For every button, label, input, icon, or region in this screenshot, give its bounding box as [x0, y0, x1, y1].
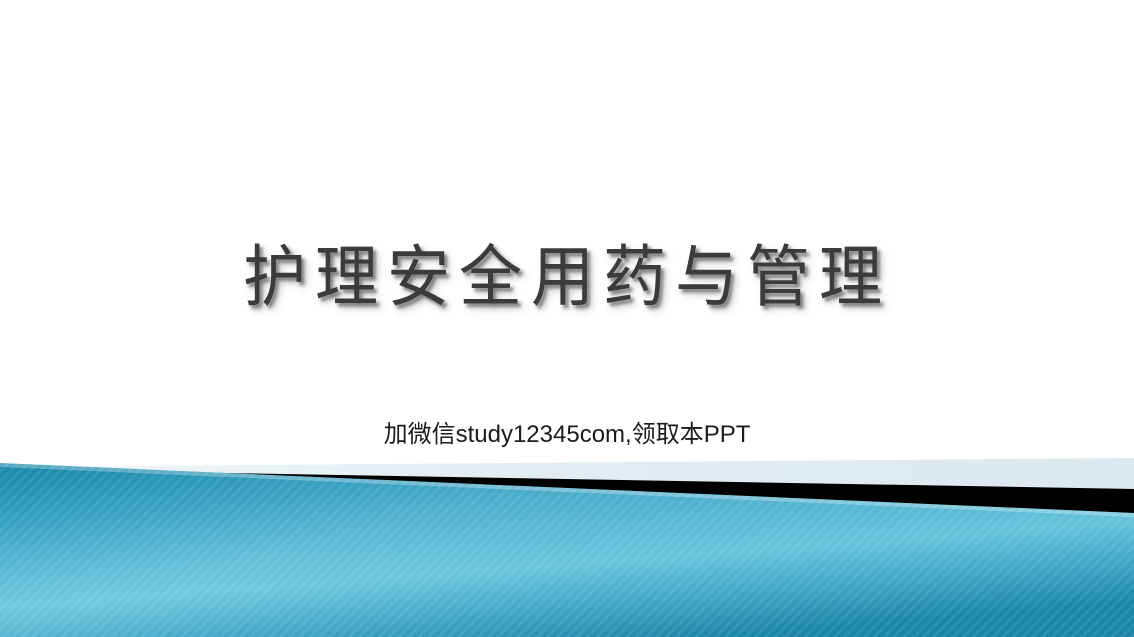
title-block: 护理安全用药与管理 — [0, 243, 1134, 309]
page-title: 护理安全用药与管理 — [243, 243, 891, 313]
banner-graphic — [0, 440, 1134, 637]
presentation-slide: 护理安全用药与管理 加微信study12345com,领取本PPT — [0, 0, 1134, 637]
bottom-decorative-banner — [0, 440, 1134, 637]
